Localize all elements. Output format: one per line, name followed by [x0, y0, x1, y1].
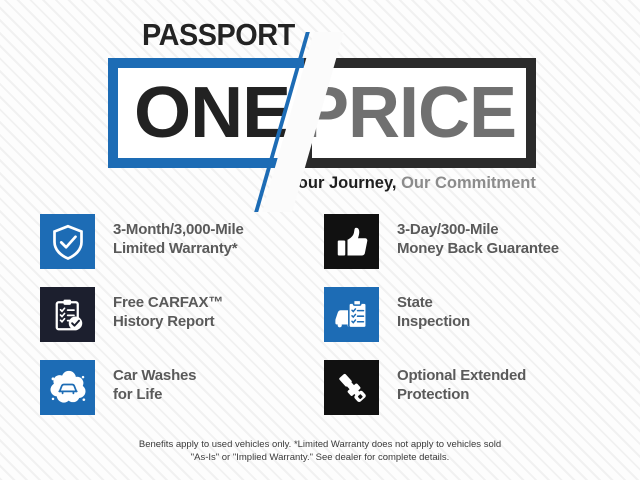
tagline-primary: Your Journey,	[288, 174, 397, 192]
passport-one-price-poster: PASSPORT ONE PRICE Your Journey, Our Com…	[0, 0, 640, 480]
thumbs-up-icon	[324, 214, 379, 269]
benefit-item: Optional Extended Protection	[324, 360, 608, 433]
benefit-label: 3-Month/3,000-Mile Limited Warranty*	[113, 221, 244, 258]
benefit-label: Free CARFAX™ History Report	[113, 294, 223, 331]
brand-logo: PASSPORT ONE PRICE Your Journey, Our Com…	[108, 18, 536, 188]
benefit-label: Car Washes for Life	[113, 367, 196, 404]
shield-check-icon	[40, 214, 95, 269]
car-wash-icon	[40, 360, 95, 415]
tagline-secondary: Our Commitment	[401, 174, 536, 192]
benefit-label: State Inspection	[397, 294, 470, 331]
benefits-grid: 3-Month/3,000-Mile Limited Warranty* 3-D…	[40, 214, 608, 433]
one-text: ONE	[134, 77, 290, 149]
price-text: PRICE	[301, 77, 516, 149]
car-inspection-icon	[324, 287, 379, 342]
seatbelt-icon	[324, 360, 379, 415]
benefit-item: 3-Month/3,000-Mile Limited Warranty*	[40, 214, 324, 287]
one-price-lockup: ONE PRICE	[108, 58, 536, 168]
clipboard-check-icon	[40, 287, 95, 342]
benefit-item: Free CARFAX™ History Report	[40, 287, 324, 360]
passport-wordmark: PASSPORT	[142, 18, 295, 52]
disclaimer-text: Benefits apply to used vehicles only. *L…	[0, 438, 640, 464]
price-box-inner: PRICE	[312, 68, 526, 158]
benefit-item: State Inspection	[324, 287, 608, 360]
benefit-label: Optional Extended Protection	[397, 367, 526, 404]
benefit-label: 3-Day/300-Mile Money Back Guarantee	[397, 221, 559, 258]
benefit-item: Car Washes for Life	[40, 360, 324, 433]
price-box: PRICE	[304, 58, 536, 168]
benefit-item: 3-Day/300-Mile Money Back Guarantee	[324, 214, 608, 287]
brand-tagline: Your Journey, Our Commitment	[288, 174, 536, 192]
